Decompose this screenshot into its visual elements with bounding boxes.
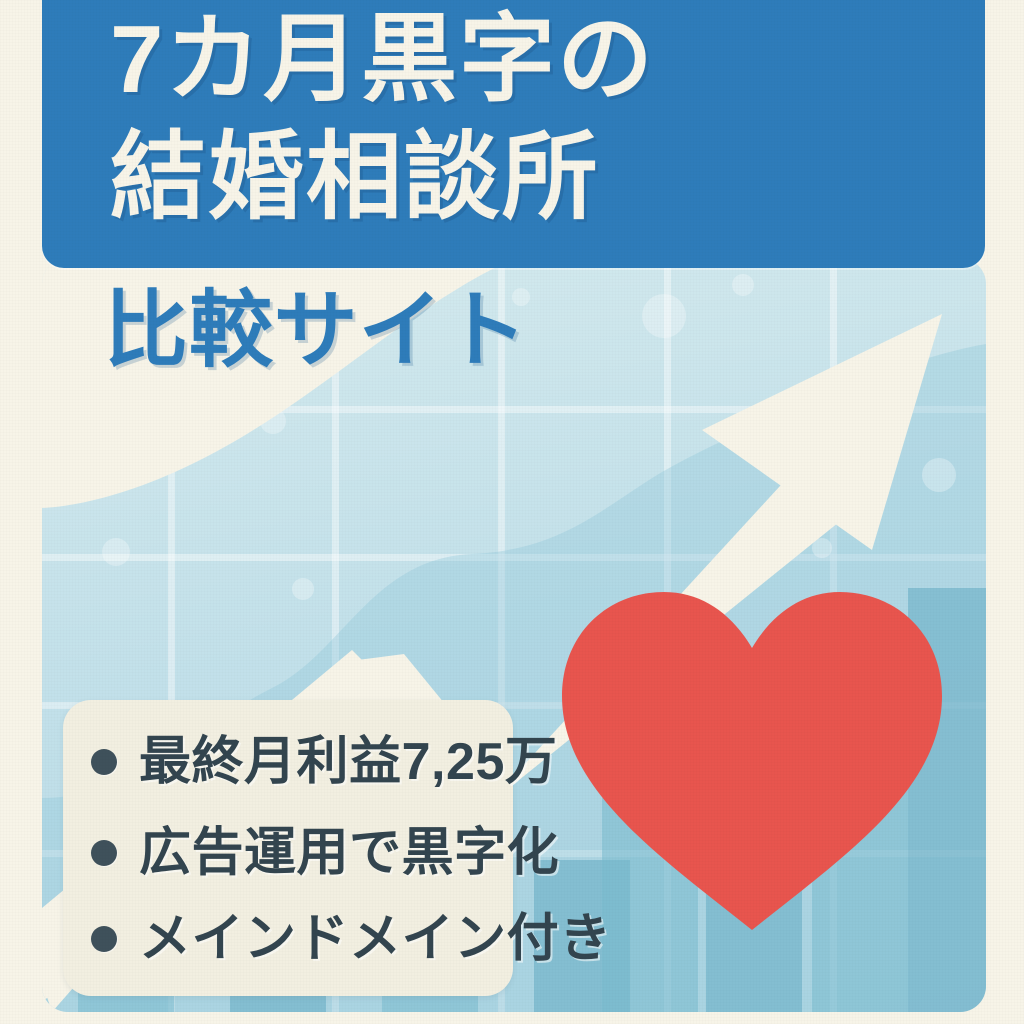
list-item-label: メインドメイン付き [139,913,612,965]
bullet-dot-icon [91,840,117,866]
title-line-2: 結婚相談所 [110,130,600,226]
list-item: 広告運用で黒字化 [91,827,559,879]
title-line-1: 7カ月黒字の [110,12,655,108]
list-item-label: 広告運用で黒字化 [139,827,559,879]
bullet-dot-icon [91,749,117,775]
highlights-list: 最終月利益7,25万 広告運用で黒字化 メインドメイン付き [63,700,623,996]
title-banner: 7カ月黒字の 結婚相談所 [42,0,985,268]
subtitle-text: 比較サイト [104,288,528,372]
list-item-label: 最終月利益7,25万 [139,736,557,788]
list-item: メインドメイン付き [91,913,612,965]
bullet-dot-icon [91,926,117,952]
list-item: 最終月利益7,25万 [91,736,557,788]
poster-canvas: 7カ月黒字の 結婚相談所 比較サイト 最終月利益7,25万 広告運用で黒字化 メ… [0,0,1024,1024]
